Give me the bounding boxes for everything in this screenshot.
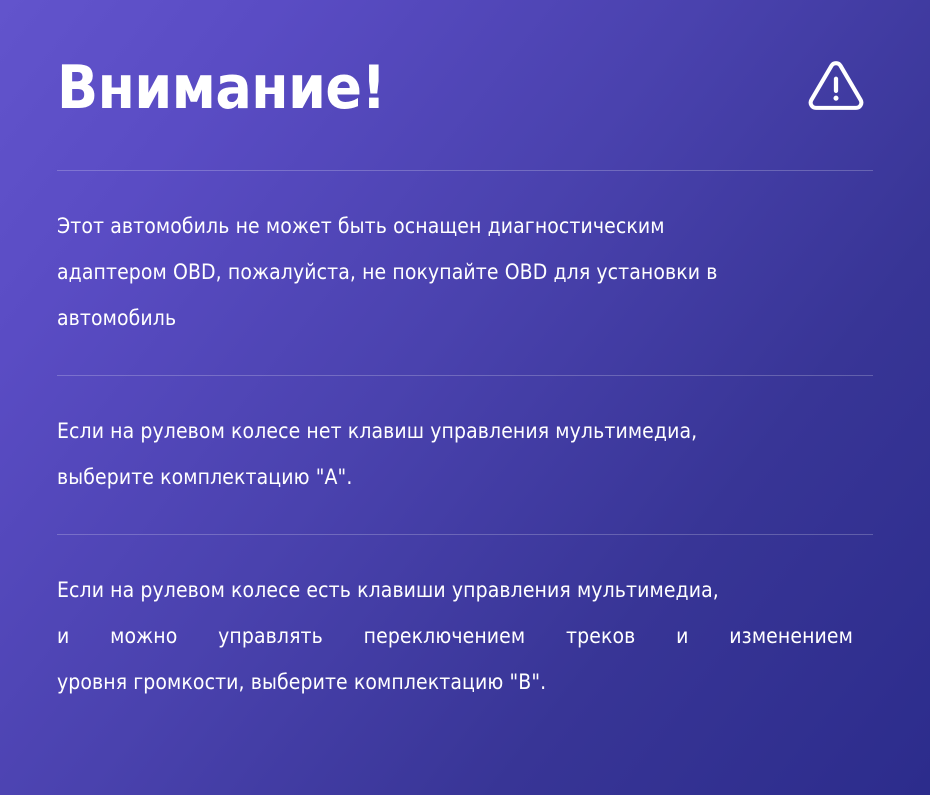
text-line: уровня громкости, выберите комплектацию … [57, 659, 853, 705]
text-line: Если на рулевом колесе нет клавиш управл… [57, 408, 833, 454]
paragraph-variant-a: Если на рулевом колесе нет клавиш управл… [57, 408, 833, 500]
banner-header: Внимание! [57, 0, 873, 170]
text-line: автомобиль [57, 295, 833, 341]
word: переключением [364, 613, 526, 659]
warning-banner: Внимание! Этот автомобиль не может быть … [0, 0, 930, 795]
paragraph-variant-b: Если на рулевом колесе есть клавиши упра… [57, 567, 853, 705]
text-line: Этот автомобиль не может быть оснащен ди… [57, 203, 833, 249]
text-line-justified: и можно управлять переключением треков и… [57, 613, 853, 659]
word: треков [566, 613, 635, 659]
page-title: Внимание! [57, 52, 386, 118]
word: изменением [729, 613, 853, 659]
text-line: выберите комплектацию "A". [57, 454, 833, 500]
word: и [676, 613, 688, 659]
section-variant-a: Если на рулевом колесе нет клавиш управл… [57, 376, 873, 534]
text-line: Если на рулевом колесе есть клавиши упра… [57, 567, 853, 613]
word: и [57, 613, 69, 659]
word: управлять [218, 613, 323, 659]
warning-triangle-icon [805, 54, 867, 116]
section-variant-b: Если на рулевом колесе есть клавиши упра… [57, 535, 873, 705]
text-line: адаптером OBD, пожалуйста, не покупайте … [57, 249, 833, 295]
section-obd-warning: Этот автомобиль не может быть оснащен ди… [57, 171, 873, 375]
paragraph-obd-warning: Этот автомобиль не может быть оснащен ди… [57, 203, 833, 341]
word: можно [110, 613, 177, 659]
